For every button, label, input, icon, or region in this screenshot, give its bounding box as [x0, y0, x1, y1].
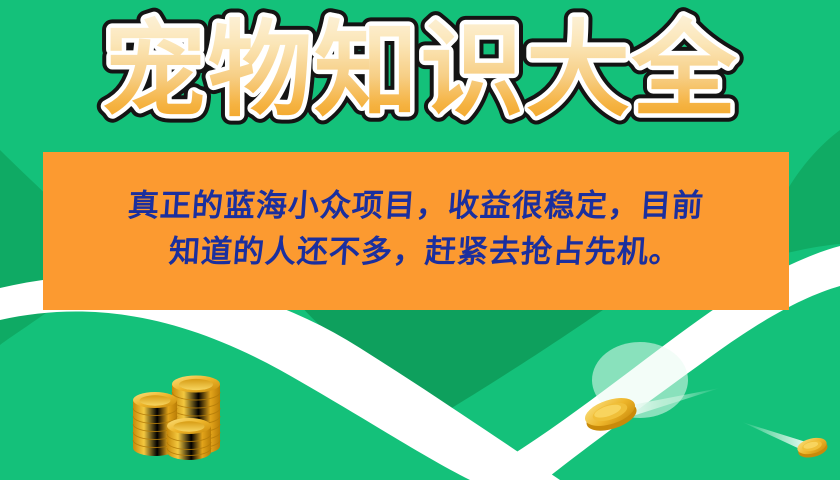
title-graphic: 宠物知识大全 宠物知识大全 宠物知识大全: [120, 10, 720, 135]
coin-stack-front: [167, 418, 211, 460]
coin-disc: [796, 435, 830, 460]
callout-line-1: 真正的蓝海小众项目，收益很稳定，目前: [126, 184, 705, 228]
flying-coin-large: [580, 386, 730, 446]
coin-stack-graphic: [125, 368, 245, 468]
coin-stack-group: [125, 368, 245, 468]
flying-coin-small-graphic: [740, 420, 840, 466]
callout-line-2: 知道的人还不多，赶紧去抢占先机。: [149, 230, 682, 274]
title-fill: 宠物知识大全: [102, 9, 738, 131]
flying-coin-large-graphic: [580, 386, 730, 446]
poster-canvas: 宠物知识大全 宠物知识大全 宠物知识大全 真正的蓝海小众项目，收益很稳定，目前 …: [0, 0, 840, 480]
coin-light-trail: [742, 422, 806, 450]
poster-title: 宠物知识大全 宠物知识大全 宠物知识大全: [0, 8, 840, 136]
flying-coin-small: [740, 420, 840, 466]
coin-disc: [582, 393, 640, 437]
callout-box: 真正的蓝海小众项目，收益很稳定，目前 知道的人还不多，赶紧去抢占先机。: [43, 152, 789, 310]
